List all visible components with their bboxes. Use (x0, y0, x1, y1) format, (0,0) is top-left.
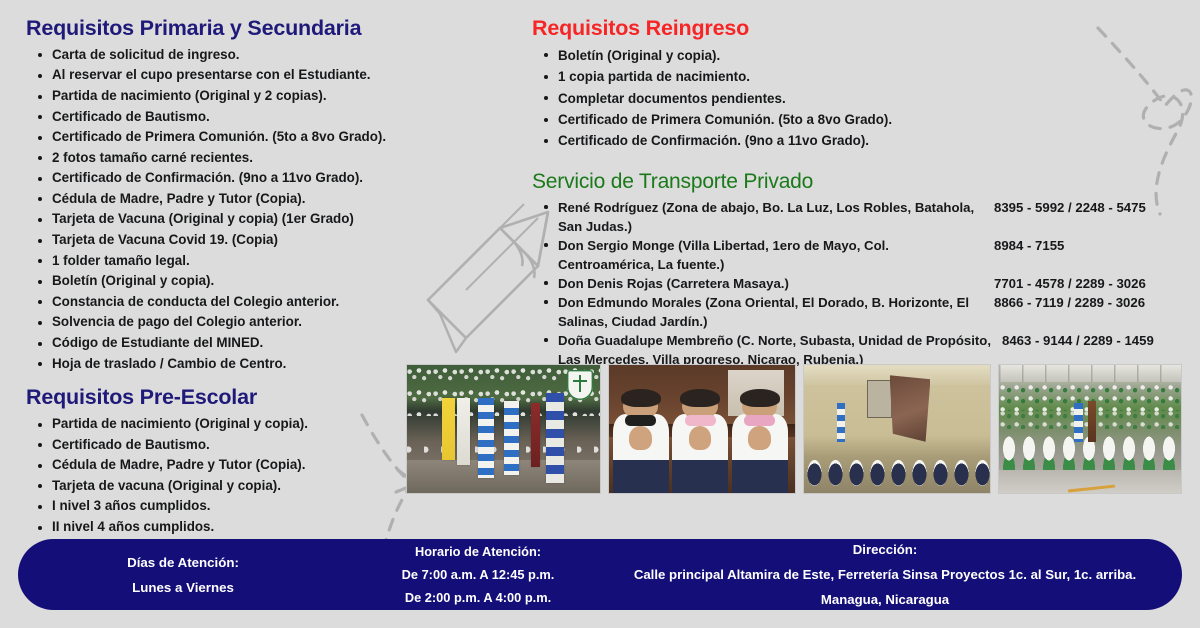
route-name: Don Edmundo Morales (Zona Oriental, El D… (558, 293, 994, 331)
list-item: 1 folder tamaño legal. (52, 251, 446, 272)
list-item: Constancia de conducta del Colegio anter… (52, 292, 446, 313)
reingreso-section-title: Requisitos Reingreso (532, 16, 1182, 41)
primaria-section-title: Requisitos Primaria y Secundaria (26, 16, 446, 41)
photo-large-gym-assembly (998, 364, 1182, 494)
reingreso-requirements-list: Boletín (Original y copia). 1 copia part… (532, 45, 1182, 152)
address-value: Calle principal Altamira de Este, Ferret… (608, 562, 1162, 612)
school-crest-icon (567, 370, 593, 400)
transport-routes-list: René Rodríguez (Zona de abajo, Bo. La Lu… (532, 198, 1182, 369)
list-item: Certificado de Bautismo. (52, 435, 446, 456)
list-item: I nivel 3 años cumplidos. (52, 496, 446, 517)
list-item: 1 copia partida de nacimiento. (558, 66, 1182, 87)
infographic-page: Requisitos Primaria y Secundaria Carta d… (0, 0, 1200, 628)
address-label: Dirección: (608, 537, 1162, 562)
list-item: Tarjeta de Vacuna Covid 19. (Copia) (52, 230, 446, 251)
preescolar-requirements-list: Partida de nacimiento (Original y copia)… (26, 414, 446, 558)
list-item: Solvencia de pago del Colegio anterior. (52, 312, 446, 333)
list-item: 2 fotos tamaño carné recientes. (52, 148, 446, 169)
list-item: Código de Estudiante del MINED. (52, 333, 446, 354)
pencil-outline-icon (428, 204, 548, 352)
list-item: Hoja de traslado / Cambio de Centro. (52, 354, 446, 375)
list-item: Certificado de Confirmación. (9no a 11vo… (558, 130, 1182, 151)
list-item: Certificado de Primera Comunión. (5to a … (558, 109, 1182, 130)
list-item: II nivel 4 años cumplidos. (52, 517, 446, 538)
attention-hours-line-2: De 2:00 p.m. A 4:00 p.m. (348, 586, 608, 609)
list-item: Certificado de Primera Comunión. (5to a … (52, 127, 446, 148)
photo-flag-ceremony-in-hall (803, 364, 991, 494)
route-phone[interactable]: 8866 - 7119 / 2289 - 3026 (994, 293, 1182, 312)
route-name: René Rodríguez (Zona de abajo, Bo. La Lu… (558, 198, 994, 236)
left-column: Requisitos Primaria y Secundaria Carta d… (26, 16, 446, 558)
route-phone[interactable]: 7701 - 4578 / 2289 - 3026 (994, 274, 1182, 293)
transport-route-row: Don Sergio Monge (Villa Libertad, 1ero d… (532, 236, 1182, 274)
footer-info-bar: Días de Atención: Lunes a Viernes Horari… (18, 539, 1182, 610)
transporte-section-title: Servicio de Transporte Privado (532, 170, 1182, 194)
transport-route-row: Don Edmundo Morales (Zona Oriental, El D… (532, 293, 1182, 331)
route-phone[interactable]: 8395 - 5992 / 2248 - 5475 (994, 198, 1182, 217)
address-block: Dirección: Calle principal Altamira de E… (608, 537, 1182, 612)
list-item: Tarjeta de Vacuna (Original y copia) (1e… (52, 209, 446, 230)
attention-days-block: Días de Atención: Lunes a Viernes (18, 550, 348, 600)
route-phone[interactable]: 8463 - 9144 / 2289 - 1459 (1002, 331, 1182, 350)
attention-hours-line-1: De 7:00 a.m. A 12:45 p.m. (348, 563, 608, 586)
list-item: Tarjeta de vacuna (Original y copia). (52, 476, 446, 497)
right-column: Requisitos Reingreso Boletín (Original y… (532, 16, 1182, 369)
photo-strip (406, 364, 1182, 494)
list-item: Cédula de Madre, Padre y Tutor (Copia). (52, 455, 446, 476)
list-item: Cédula de Madre, Padre y Tutor (Copia). (52, 189, 446, 210)
route-name: Don Sergio Monge (Villa Libertad, 1ero d… (558, 236, 994, 274)
transport-route-row: René Rodríguez (Zona de abajo, Bo. La Lu… (532, 198, 1182, 236)
route-phone[interactable]: 8984 - 7155 (994, 236, 1182, 255)
attention-hours-block: Horario de Atención: De 7:00 a.m. A 12:4… (348, 540, 608, 609)
list-item: Boletín (Original y copia). (558, 45, 1182, 66)
attention-days-label: Días de Atención: (18, 550, 348, 575)
list-item: Certificado de Confirmación. (9no a 11vo… (52, 168, 446, 189)
list-item: Certificado de Bautismo. (52, 107, 446, 128)
list-item: Al reservar el cupo presentarse con el E… (52, 65, 446, 86)
list-item: Carta de solicitud de ingreso. (52, 45, 446, 66)
preescolar-section-title: Requisitos Pre-Escolar (26, 385, 446, 410)
list-item: Partida de nacimiento (Original y copia)… (52, 414, 446, 435)
route-name: Don Denis Rojas (Carretera Masaya.) (558, 274, 994, 293)
transport-route-row: Don Denis Rojas (Carretera Masaya.) 7701… (532, 274, 1182, 293)
photo-students-praying-in-chapel (608, 364, 796, 494)
photo-school-assembly-with-flags (406, 364, 601, 494)
section-spacer (532, 152, 1182, 170)
list-item: Boletín (Original y copia). (52, 271, 446, 292)
section-spacer (26, 374, 446, 385)
list-item: Partida de nacimiento (Original y 2 copi… (52, 86, 446, 107)
primaria-requirements-list: Carta de solicitud de ingreso. Al reserv… (26, 45, 446, 375)
attention-days-value: Lunes a Viernes (18, 575, 348, 600)
attention-hours-label: Horario de Atención: (348, 540, 608, 563)
list-item: Completar documentos pendientes. (558, 88, 1182, 109)
